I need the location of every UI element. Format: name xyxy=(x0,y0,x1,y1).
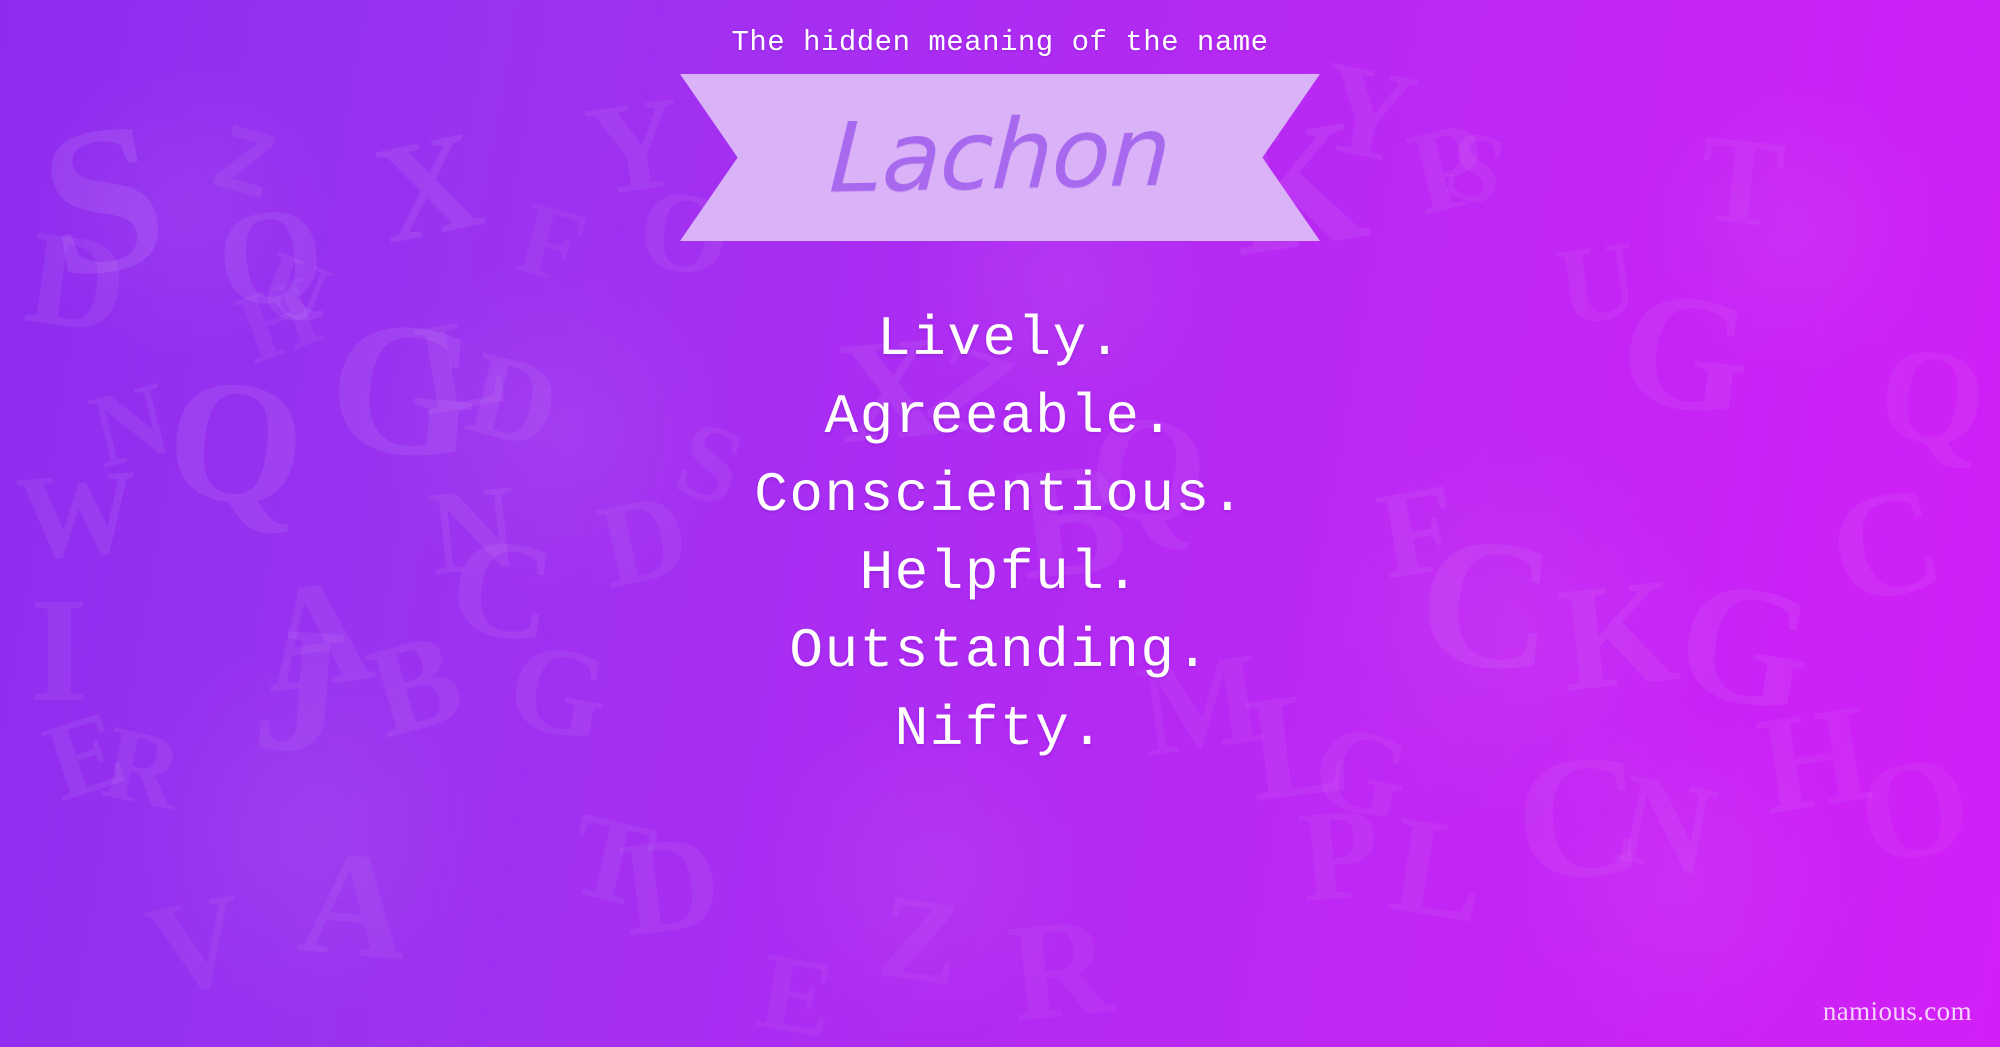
background-letter: S xyxy=(28,86,179,313)
name-banner-inner: Lachon xyxy=(680,74,1320,241)
background-letter: R xyxy=(1003,895,1118,1045)
page-title: The hidden meaning of the name xyxy=(0,26,2000,59)
background-letter: Z xyxy=(203,114,284,221)
background-letter: Z xyxy=(872,875,968,1005)
meaning-list: Lively.Agreeable.Conscientious.Helpful.O… xyxy=(0,300,2000,768)
meaning-line: Lively. xyxy=(0,300,2000,378)
meaning-line: Helpful. xyxy=(0,534,2000,612)
background-letter: S xyxy=(1435,112,1516,223)
background-letter: D xyxy=(614,813,727,959)
site-watermark: namious.com xyxy=(1823,996,1972,1027)
background-letter: T xyxy=(560,793,665,928)
background-letter: P xyxy=(1399,101,1499,235)
background-letter: E xyxy=(751,934,842,1047)
meaning-line: Agreeable. xyxy=(0,378,2000,456)
background-letter: P xyxy=(1294,787,1384,923)
background-letter: N xyxy=(1608,752,1725,898)
name-text: Lachon xyxy=(828,103,1173,212)
background-letter: Y xyxy=(579,76,690,218)
background-letter: X xyxy=(365,109,493,267)
meaning-line: Nifty. xyxy=(0,690,2000,768)
name-meaning-graphic: SDWIERZQUNQAJXGLDNCBGYODSXZBQKYPSUGFCKGC… xyxy=(0,0,2000,1047)
background-letter: V xyxy=(138,872,255,1018)
background-letter: F xyxy=(508,183,597,301)
background-letter: T xyxy=(1694,116,1790,249)
name-banner: Lachon xyxy=(680,74,1320,241)
background-letter: A xyxy=(294,826,415,985)
background-letter: Y xyxy=(1308,40,1427,187)
meaning-line: Conscientious. xyxy=(0,456,2000,534)
meaning-line: Outstanding. xyxy=(0,612,2000,690)
background-letter: L xyxy=(1382,794,1496,947)
